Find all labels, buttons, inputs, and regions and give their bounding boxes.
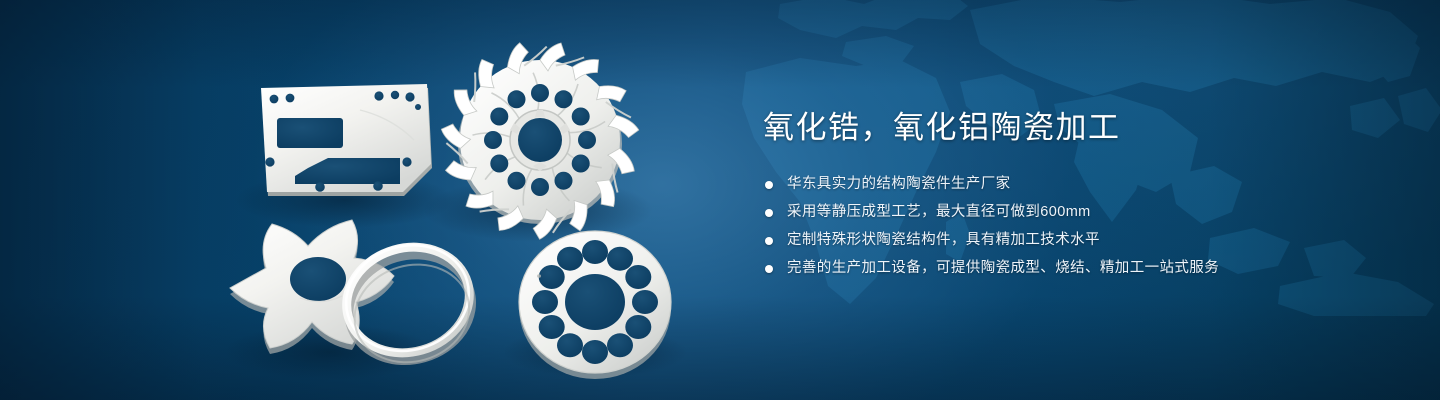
list-item-label: 华东具实力的结构陶瓷件生产厂家	[787, 176, 1011, 192]
list-item-label: 完善的生产加工设备，可提供陶瓷成型、烧结、精加工一站式服务	[787, 260, 1219, 276]
ceramic-products-photo	[0, 0, 740, 400]
feature-list: 华东具实力的结构陶瓷件生产厂家 采用等静压成型工艺，最大直径可做到600mm 定…	[763, 174, 1383, 279]
banner-copy: 氧化锆，氧化铝陶瓷加工 华东具实力的结构陶瓷件生产厂家 采用等静压成型工艺，最大…	[763, 108, 1383, 279]
ceramic-perforated-disc	[519, 231, 671, 379]
bullet-dot-icon	[765, 237, 773, 245]
list-item: 华东具实力的结构陶瓷件生产厂家	[763, 174, 1383, 195]
page-title: 氧化锆，氧化铝陶瓷加工	[763, 108, 1383, 148]
bullet-dot-icon	[765, 265, 773, 273]
ceramic-mounting-plate	[261, 84, 432, 196]
bullet-dot-icon	[765, 181, 773, 189]
list-item: 完善的生产加工设备，可提供陶瓷成型、烧结、精加工一站式服务	[763, 258, 1383, 279]
list-item-label: 定制特殊形状陶瓷结构件，具有精加工技术水平	[787, 232, 1100, 248]
bullet-dot-icon	[765, 209, 773, 217]
list-item-label: 采用等静压成型工艺，最大直径可做到600mm	[787, 204, 1091, 220]
ceramic-product-banner: 氧化锆，氧化铝陶瓷加工 华东具实力的结构陶瓷件生产厂家 采用等静压成型工艺，最大…	[0, 0, 1440, 400]
list-item: 采用等静压成型工艺，最大直径可做到600mm	[763, 202, 1383, 223]
list-item: 定制特殊形状陶瓷结构件，具有精加工技术水平	[763, 230, 1383, 251]
